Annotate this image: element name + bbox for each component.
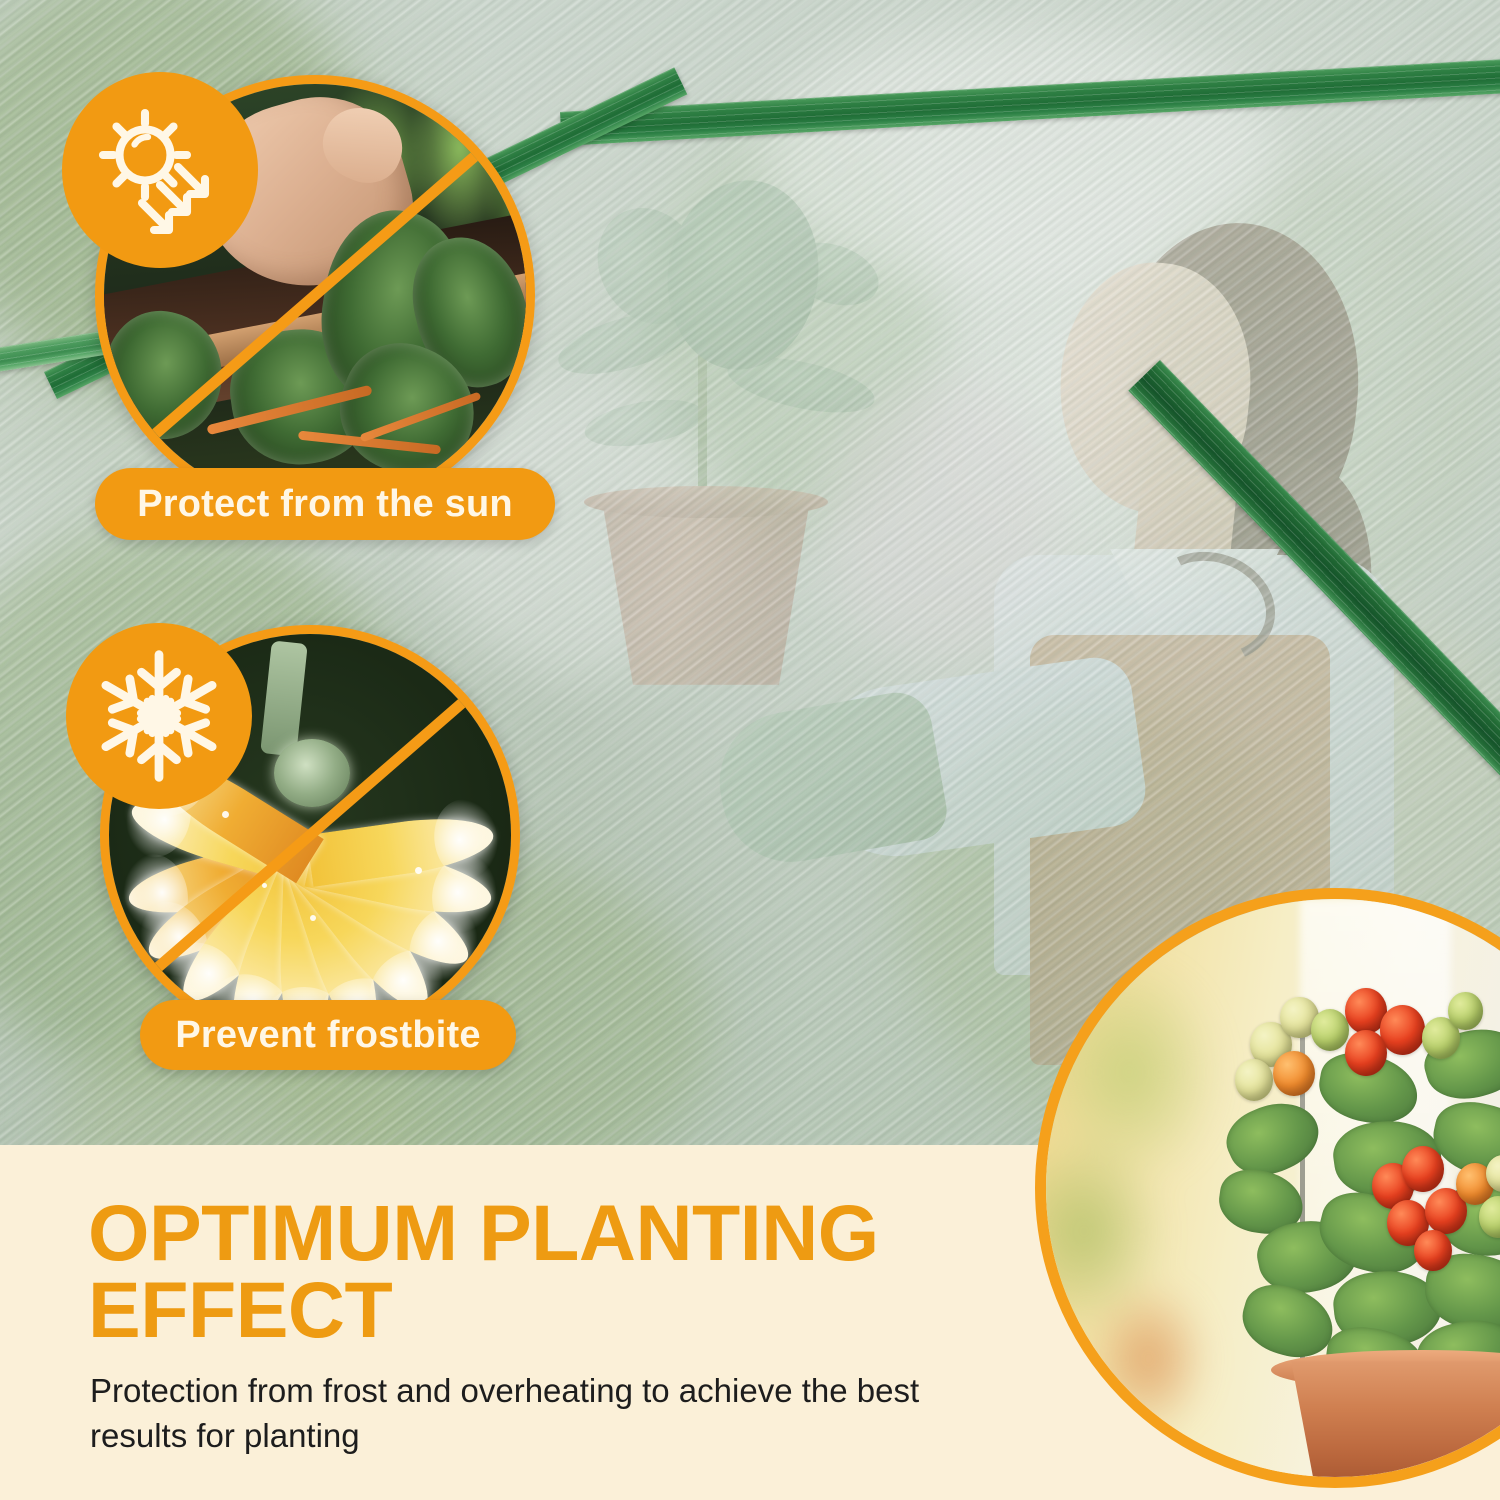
tomato-fruit [1311, 1009, 1349, 1051]
tomato-leaf [1235, 1277, 1341, 1366]
frost-crystal [262, 883, 267, 888]
headline-line-1: OPTIMUM PLANTING [88, 1195, 968, 1272]
frost-crystal [415, 867, 422, 874]
tomato-plant [1219, 980, 1500, 1396]
tomato-plant-photo [1035, 888, 1500, 1488]
sun-feature-label-text: Protect from the sun [137, 483, 513, 526]
tomato-fruit [1273, 1051, 1315, 1097]
frost-crystal [222, 811, 229, 818]
headline-line-2: EFFECT [88, 1272, 968, 1349]
flower-center [274, 739, 350, 807]
terracotta-pot [1283, 1361, 1500, 1488]
tomato-fruit [1448, 992, 1482, 1029]
frost-feature-label-text: Prevent frostbite [175, 1014, 480, 1057]
page-title: OPTIMUM PLANTING EFFECT [88, 1195, 968, 1348]
frost-feature-label: Prevent frostbite [140, 1000, 516, 1070]
infographic-stage: Protect from the sun [0, 0, 1500, 1500]
tomato-fruit [1235, 1059, 1273, 1101]
sun-with-arrows-icon [62, 72, 258, 268]
page-subtitle: Protection from frost and overheating to… [90, 1369, 950, 1459]
tomato-fruit [1345, 1030, 1387, 1076]
tomato-fruit [1414, 1230, 1452, 1272]
tomato-fruit [1402, 1146, 1444, 1192]
sun-feature-label: Protect from the sun [95, 468, 555, 540]
snowflake-icon [66, 623, 252, 809]
